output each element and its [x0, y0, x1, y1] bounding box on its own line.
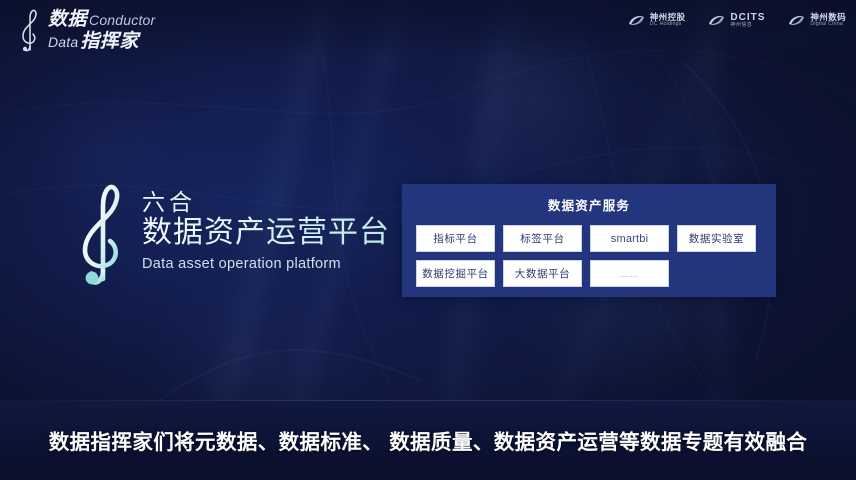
brand-line-1: 数据 Conductor	[48, 10, 155, 29]
corporate-name-en: 神州信息	[730, 23, 765, 29]
corporate-logo-text: 神州控股 DC Holdings	[650, 13, 686, 28]
data-asset-service-panel: 数据资产服务 指标平台 标签平台 smartbi 数据实验室 数据挖掘平台 大数…	[402, 184, 776, 297]
panel-title: 数据资产服务	[402, 184, 776, 214]
corporate-logo-dc-holdings: 神州控股 DC Holdings	[627, 13, 686, 28]
brand-logo: 数据 Conductor Data 指挥家	[14, 6, 155, 52]
service-chip-more[interactable]: ……	[590, 260, 669, 287]
brand-wordmark: 数据 Conductor Data 指挥家	[48, 8, 155, 51]
swoosh-icon	[707, 13, 726, 28]
corporate-logo-group: 神州控股 DC Holdings DCITS 神州信息	[627, 12, 846, 29]
service-chip-grid: 指标平台 标签平台 smartbi 数据实验室 数据挖掘平台 大数据平台 ……	[402, 214, 776, 287]
service-chip-smartbi[interactable]: smartbi	[590, 225, 669, 252]
service-chip-data-lab[interactable]: 数据实验室	[677, 225, 756, 252]
brand-cn-2: 指挥家	[78, 32, 139, 51]
brand-en-1: Conductor	[87, 13, 155, 27]
brand-en-2: Data	[48, 35, 78, 49]
slide-canvas: 数据 Conductor Data 指挥家 神州控股 DC Holdings	[0, 0, 856, 480]
product-title-english: Data asset operation platform	[142, 256, 390, 272]
service-chip-big-data-platform[interactable]: 大数据平台	[503, 260, 582, 287]
treble-clef-icon	[72, 179, 134, 287]
product-subtitle: 六合	[142, 190, 390, 215]
caption-band: 数据指挥家们将元数据、数据标准、 数据质量、数据资产运营等数据专题有效融合	[0, 400, 856, 480]
corporate-name-en: Digital China	[810, 22, 846, 28]
brand-line-2: Data 指挥家	[48, 32, 155, 51]
brand-cn-1: 数据	[48, 10, 87, 29]
swoosh-icon	[787, 13, 806, 28]
corporate-logo-dcits: DCITS 神州信息	[707, 12, 765, 29]
corporate-logo-digital-china: 神州数码 Digital China	[787, 13, 846, 28]
corporate-logo-text: 神州数码 Digital China	[810, 13, 846, 28]
corporate-name-en: DC Holdings	[650, 22, 686, 28]
product-title: 数据资产运营平台	[142, 215, 390, 252]
treble-clef-icon	[14, 6, 46, 52]
caption-text: 数据指挥家们将元数据、数据标准、 数据质量、数据资产运营等数据专题有效融合	[49, 425, 808, 455]
corporate-logo-text: DCITS 神州信息	[730, 12, 765, 29]
service-chip-indicator-platform[interactable]: 指标平台	[416, 225, 495, 252]
service-chip-data-mining-platform[interactable]: 数据挖掘平台	[416, 260, 495, 287]
service-chip-tag-platform[interactable]: 标签平台	[503, 225, 582, 252]
swoosh-icon	[627, 13, 646, 28]
top-header-bar: 数据 Conductor Data 指挥家 神州控股 DC Holdings	[0, 0, 856, 57]
main-content: 六合 数据资产运营平台 Data asset operation platfor…	[0, 57, 856, 400]
product-lockup-text: 六合 数据资产运营平台 Data asset operation platfor…	[142, 190, 390, 273]
product-lockup: 六合 数据资产运营平台 Data asset operation platfor…	[72, 175, 390, 287]
